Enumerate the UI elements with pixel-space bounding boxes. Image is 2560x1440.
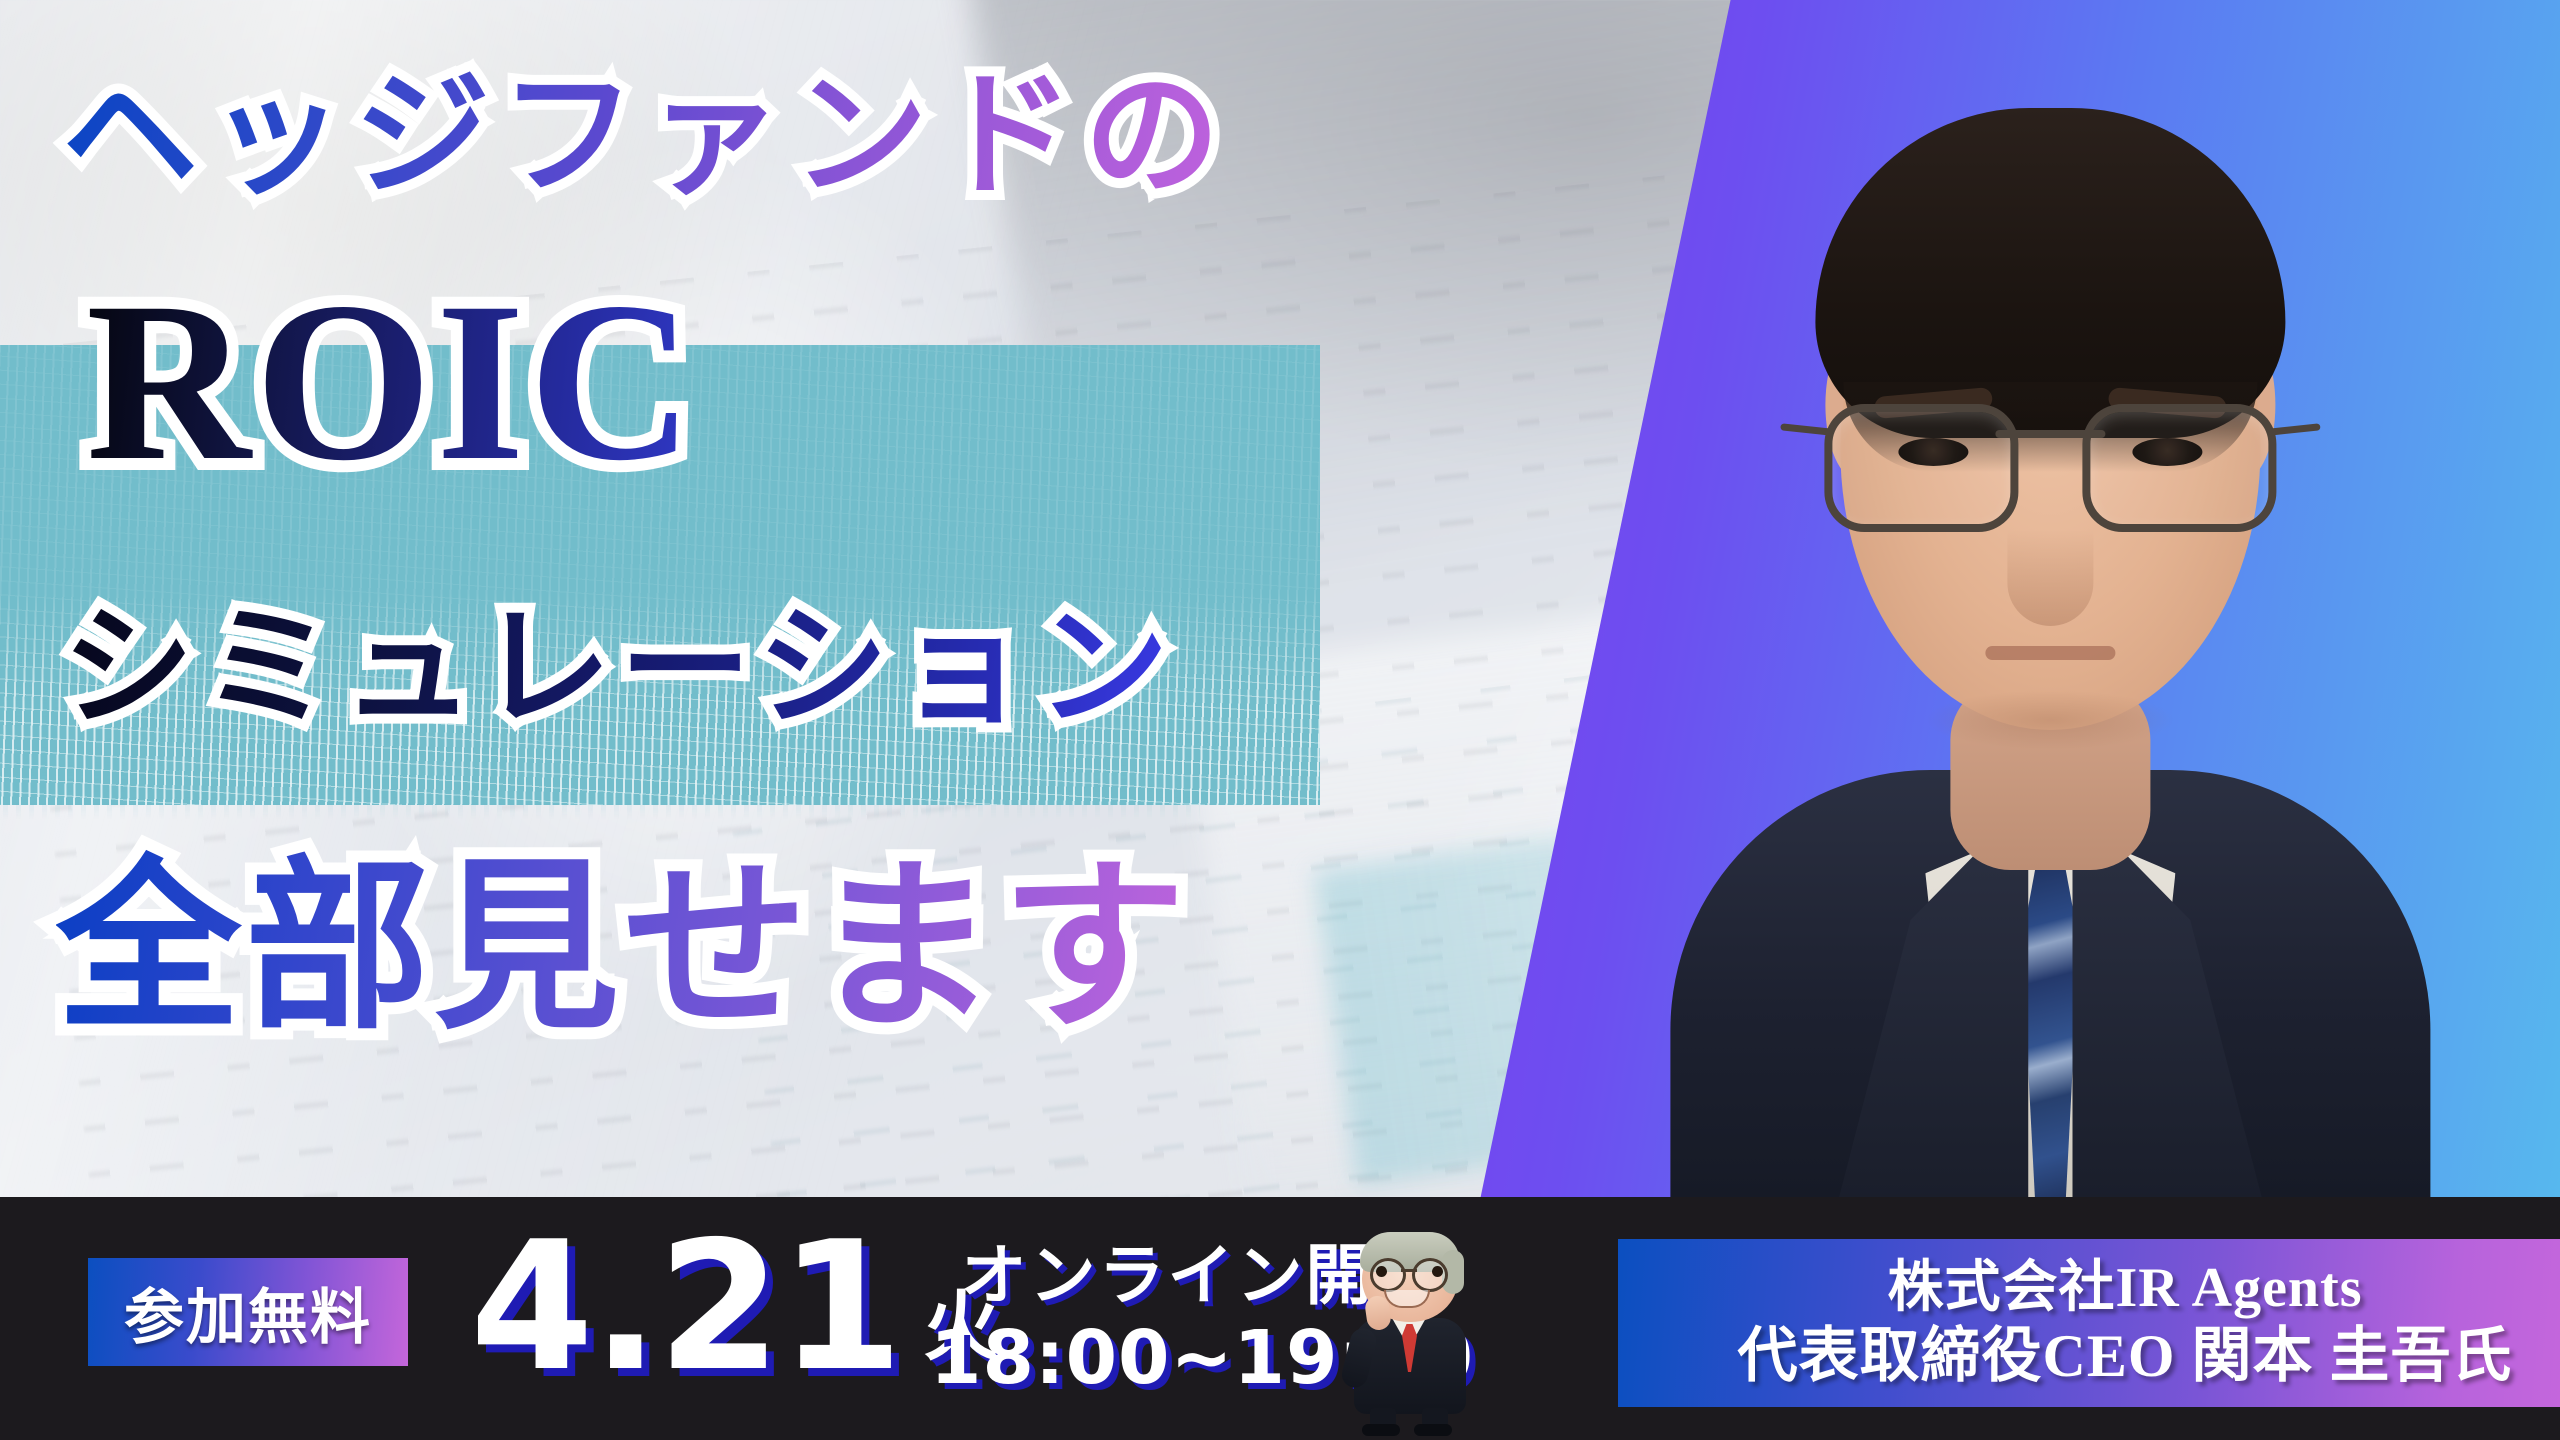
free-entry-badge-label: 参加無料 (124, 1269, 372, 1356)
headline-line-4-text: 全部見せます (56, 839, 1190, 1055)
mascot-pupil-left (1376, 1266, 1387, 1277)
speaker-company: 株式会社IR Agents (1887, 1255, 2362, 1321)
headline-block: ヘッジファンドの ヘッジファンドの ROIC ROIC シミュレーション シミュ… (0, 0, 1560, 1200)
glasses-arm-left (1780, 423, 1832, 435)
free-entry-badge: 参加無料 (88, 1258, 408, 1366)
event-date: 4.21 (470, 1225, 901, 1389)
headline-line-1: ヘッジファンドの ヘッジファンドの (62, 68, 1230, 204)
portrait-hair (1815, 108, 2285, 438)
glasses-bridge (1995, 430, 2105, 438)
mascot-lens-right (1412, 1258, 1448, 1292)
portrait-nose (2007, 530, 2093, 626)
mascot-lens-left (1370, 1258, 1406, 1292)
headline-line-4: 全部見せます 全部見せます (56, 855, 1190, 1040)
portrait-chin-shade (1925, 690, 2175, 750)
mascot-shoe-right (1414, 1424, 1452, 1436)
mascot-shoe-left (1362, 1424, 1400, 1436)
mascot-pupil-right (1432, 1266, 1443, 1277)
speaker-name-plate: 株式会社IR Agents 代表取締役CEO 関本 圭吾氏 (1618, 1239, 2560, 1407)
headline-line-3: シミュレーション シミュレーション (62, 602, 1177, 734)
speaker-portrait-photo (1670, 0, 2430, 1200)
mascot-glasses-bridge (1401, 1269, 1417, 1272)
headline-line-1-text: ヘッジファンドの (62, 57, 1230, 215)
glasses-arm-right (2268, 423, 2320, 435)
glasses-lens-left (1824, 404, 2018, 532)
footer-bar: 参加無料 4.21 火 オンライン開催 18:00~19:00 株式会社IR A… (0, 1197, 2560, 1440)
webinar-banner: ヘッジファンドの ヘッジファンドの ROIC ROIC シミュレーション シミュ… (0, 0, 2560, 1440)
headline-line-2-text: ROIC (86, 256, 697, 508)
investor-mascot-icon (1340, 1232, 1490, 1432)
event-date-block: 4.21 火 (470, 1225, 999, 1389)
headline-line-2: ROIC ROIC (86, 268, 697, 496)
portrait-mouth (1985, 646, 2115, 660)
headline-line-3-text: シミュレーション (62, 591, 1177, 745)
portrait-glasses-icon (1824, 404, 2276, 524)
speaker-title: 代表取締役CEO 関本 圭吾氏 (1737, 1321, 2512, 1392)
glasses-lens-right (2082, 404, 2276, 532)
